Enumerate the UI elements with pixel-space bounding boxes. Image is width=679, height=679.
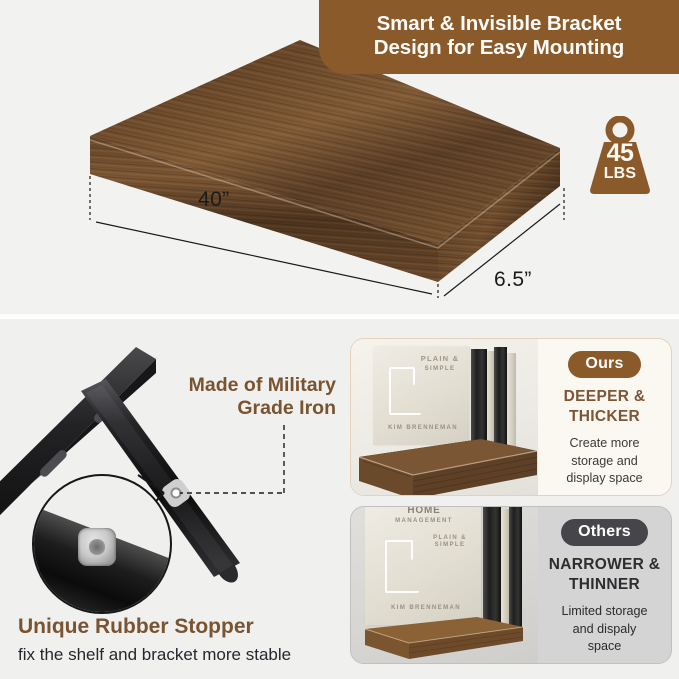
- photo-others: HOME MANAGEMENT PLAIN & SIMPLE KIM BRENN…: [351, 507, 538, 663]
- text-column-ours: Ours DEEPER & THICKER Create more storag…: [538, 339, 671, 495]
- shelf-thin-render: [351, 507, 538, 663]
- shelf-thick-render: [351, 339, 538, 495]
- weight-capacity-badge: 45 LBS: [584, 116, 656, 194]
- headline-others: NARROWER & THINNER: [549, 555, 661, 595]
- header-banner: Smart & Invisible Bracket Design for Eas…: [319, 0, 679, 74]
- callout-dashed-line: [178, 421, 284, 493]
- headline-ours: DEEPER & THICKER: [564, 387, 646, 427]
- description-others: Limited storage and dispaly space: [561, 603, 647, 655]
- product-infographic: 40” 6.5” Smart & Invisible Bracket Desig…: [0, 0, 679, 679]
- callout-anchor-dot: [172, 489, 179, 496]
- text-column-others: Others NARROWER & THINNER Limited storag…: [538, 507, 671, 663]
- military-grade-heading: Made of Military Grade Iron: [160, 374, 336, 421]
- photo-ours: PLAIN & SIMPLE KIM BRENNEMAN: [351, 339, 538, 495]
- description-ours: Create more storage and display space: [566, 435, 642, 487]
- top-panel-shelf-dimensions: 40” 6.5” Smart & Invisible Bracket Desig…: [0, 0, 679, 314]
- shelf-length-label: 40”: [198, 188, 230, 212]
- rubber-stopper-subtext: fix the shelf and bracket more stable: [18, 645, 291, 665]
- magnified-rubber-stopper: [78, 528, 116, 566]
- comparison-card-ours[interactable]: PLAIN & SIMPLE KIM BRENNEMAN: [350, 338, 672, 496]
- badge-ours: Ours: [568, 351, 640, 378]
- comparison-card-others[interactable]: HOME MANAGEMENT PLAIN & SIMPLE KIM BRENN…: [350, 506, 672, 664]
- weight-unit: LBS: [584, 165, 656, 183]
- badge-others: Others: [561, 519, 648, 546]
- magnifier-rubber-stopper: [32, 474, 172, 614]
- rubber-stopper-heading: Unique Rubber Stopper: [18, 615, 254, 639]
- shelf-depth-label: 6.5”: [494, 268, 532, 292]
- header-title: Smart & Invisible Bracket Design for Eas…: [360, 12, 638, 62]
- weight-value: 45: [584, 139, 656, 168]
